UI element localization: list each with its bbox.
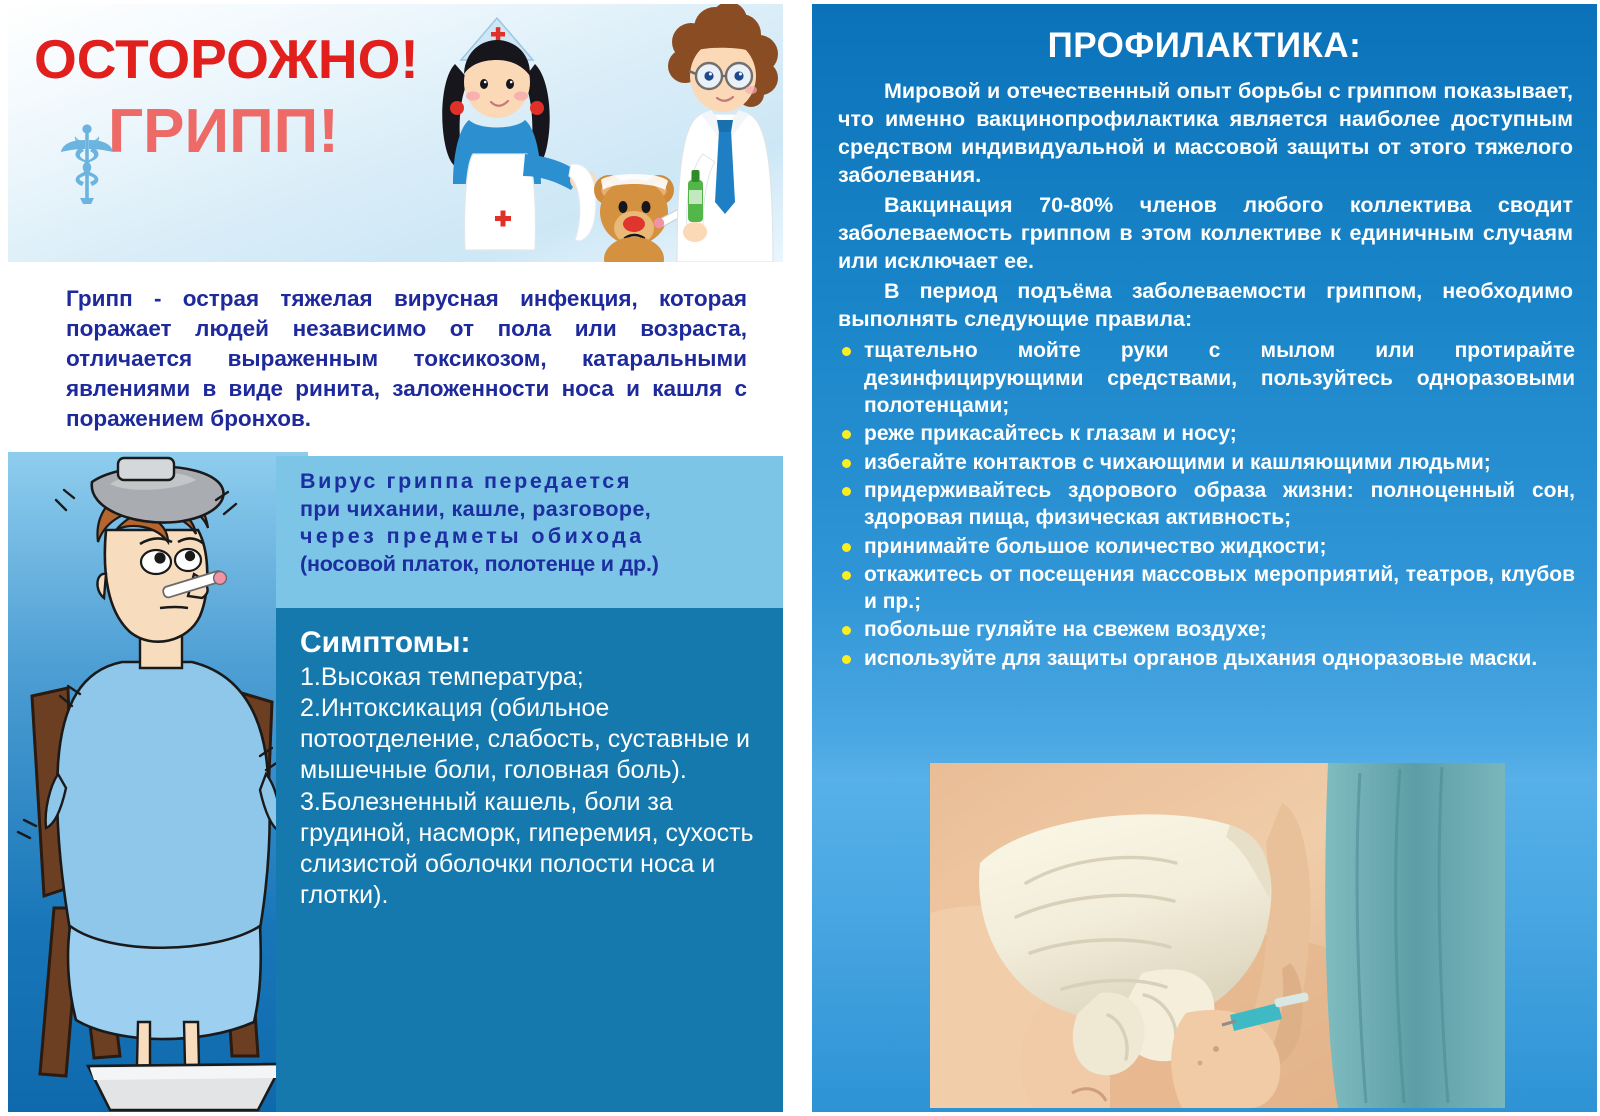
transmission-line-2: при чихании, кашле, разговоре, xyxy=(300,496,765,524)
rule-item: реже прикасайтесь к глазам и носу; xyxy=(838,420,1575,447)
intro-block: Грипп - острая тяжелая вирусная инфекция… xyxy=(8,262,783,452)
caduceus-icon xyxy=(60,122,114,206)
title-warning: ОСТОРОЖНО! xyxy=(34,32,454,87)
intro-text: Грипп - острая тяжелая вирусная инфекция… xyxy=(66,284,747,434)
transmission-line-1: Вирус гриппа передается xyxy=(300,468,765,496)
sick-man-with-ice-pack xyxy=(10,456,306,1112)
rule-item: используйте для защиты органов дыхания о… xyxy=(838,645,1575,672)
symptoms-title: Симптомы: xyxy=(300,626,769,660)
left-panel: ОСТОРОЖНО! ГРИПП! xyxy=(8,4,783,1112)
vaccination-photo-image xyxy=(930,763,1505,1108)
doctor-character xyxy=(668,4,778,262)
transmission-block: Вирус гриппа передается при чихании, каш… xyxy=(276,456,783,608)
flu-prevention-poster: ОСТОРОЖНО! ГРИПП! xyxy=(0,0,1600,1116)
symptom-item: 1.Высокая температура; xyxy=(300,662,769,693)
prevention-paragraph: Вакцинация 70-80% членов любого коллекти… xyxy=(830,192,1579,276)
prevention-title: ПРОФИЛАКТИКА: xyxy=(830,26,1579,66)
prevention-paragraph: Мировой и отечественный опыт борьбы с гр… xyxy=(830,78,1579,190)
prevention-rules-list: тщательно мойте руки с мылом или протира… xyxy=(830,337,1579,672)
symptom-item: 2.Интоксикация (обильное потоотделение, … xyxy=(300,693,769,787)
rule-item: побольше гуляйте на свежем воздухе; xyxy=(838,616,1575,643)
hero-characters xyxy=(403,4,783,262)
transmission-line-3: через предметы обихода xyxy=(300,523,765,551)
rule-item: тщательно мойте руки с мылом или протира… xyxy=(838,337,1575,419)
rule-item: избегайте контактов с чихающими и кашляю… xyxy=(838,449,1575,476)
symptom-item: 3.Болезненный кашель, боли за грудиной, … xyxy=(300,787,769,912)
hero-banner: ОСТОРОЖНО! ГРИПП! xyxy=(8,4,783,262)
symptoms-block: Симптомы: 1.Высокая температура; 2.Инток… xyxy=(276,608,783,1112)
vaccination-photo xyxy=(930,763,1505,1108)
transmission-line-4: (носовой платок, полотенце и др.) xyxy=(300,551,765,579)
rule-item: откажитесь от посещения массовых меропри… xyxy=(838,561,1575,616)
prevention-paragraph: В период подъёма заболеваемости гриппом,… xyxy=(830,278,1579,334)
nurse-character xyxy=(442,18,596,250)
rule-item: принимайте большое количество жидкости; xyxy=(838,533,1575,560)
rule-item: придерживайтесь здорового образа жизни: … xyxy=(838,477,1575,532)
